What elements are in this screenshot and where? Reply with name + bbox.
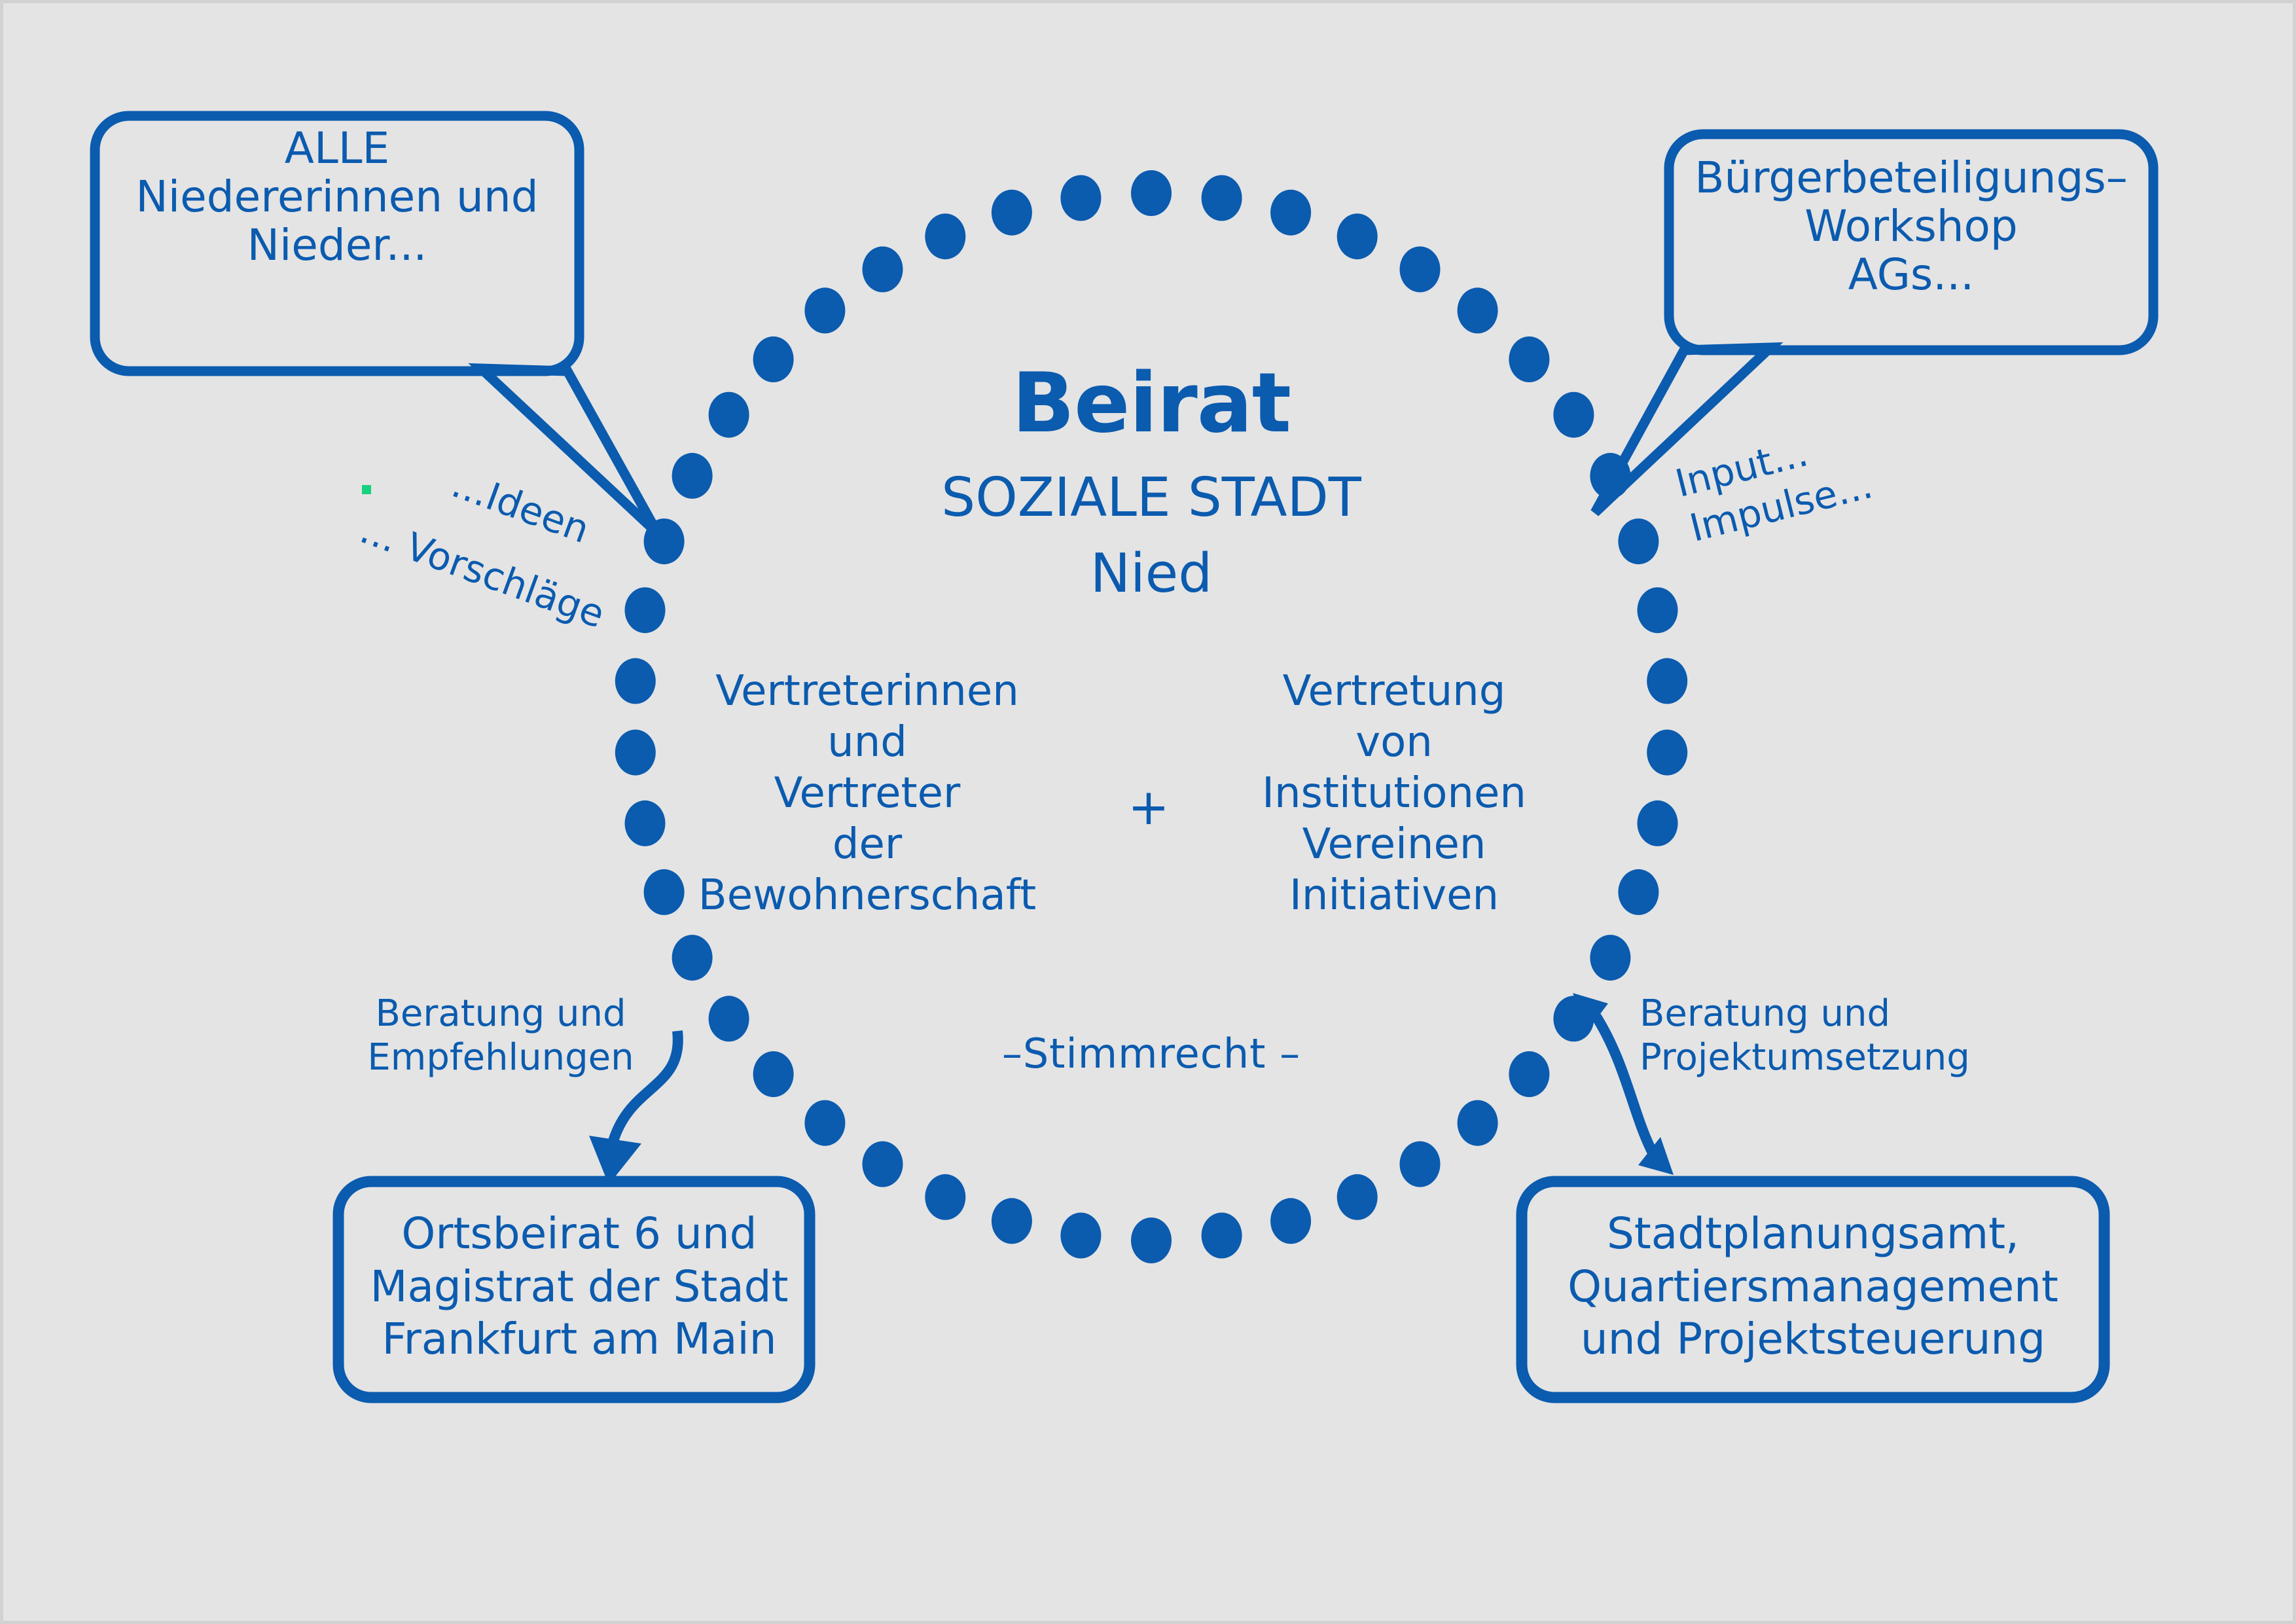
ring-dot [1638, 587, 1678, 633]
ring-dot [1647, 658, 1687, 704]
ring-dot [1509, 1051, 1549, 1097]
ring-dot [992, 190, 1032, 236]
ring-dot [1060, 175, 1101, 221]
page-title: Beirat [824, 357, 1479, 449]
green-marker-dot [362, 485, 371, 494]
ring-dot [925, 1174, 965, 1220]
members-residents-column: Vertreterinnen und Vertreter der Bewohne… [697, 666, 1037, 921]
ring-dot [863, 1142, 903, 1187]
ring-dot [1337, 213, 1378, 259]
ring-dot [1553, 392, 1594, 438]
ring-dot [1590, 935, 1630, 981]
ring-dot [863, 247, 903, 293]
ring-dot [804, 1100, 845, 1146]
voting-rights-note: –Stimmrecht – [922, 1031, 1380, 1076]
arrow-label-right: Beratung und Projektumsetzung [1640, 992, 1980, 1079]
plus-sign: + [1077, 779, 1221, 835]
ring-dot [1647, 730, 1687, 776]
ring-dot [709, 392, 749, 438]
ring-dot [1458, 287, 1498, 333]
ring-dot [1270, 190, 1311, 236]
ring-dot [1060, 1213, 1101, 1259]
ring-dot [672, 935, 713, 981]
ring-dot [709, 996, 749, 1041]
ring-dot [672, 453, 713, 499]
ring-dot [753, 336, 794, 382]
ring-dot [1618, 869, 1659, 915]
program-subtitle: SOZIALE STADT [824, 468, 1479, 528]
ring-dot [1458, 1100, 1498, 1146]
ring-dot [1337, 1174, 1378, 1220]
ring-dot [625, 587, 666, 633]
ring-dot [1202, 1213, 1242, 1259]
ring-dot [804, 287, 845, 333]
ring-dot [753, 1051, 794, 1097]
box-bottom-right-label: Stadtplanungsamt, Quartiersmanagement un… [1528, 1208, 2098, 1366]
ring-dot [625, 801, 666, 846]
ring-dot [1638, 801, 1678, 846]
ring-dot [1270, 1198, 1311, 1244]
ring-dot [1509, 336, 1549, 382]
members-institutions-column: Vertretung von Institutionen Vereinen In… [1240, 666, 1548, 921]
bubble-top-right-label: Bürgerbeteiligungs– Workshop AGs... [1669, 154, 2153, 299]
ring-dot [1131, 170, 1172, 216]
ring-dot [615, 658, 656, 704]
ring-dot [1400, 1142, 1441, 1187]
ring-dot [992, 1198, 1032, 1244]
ring-dot [1131, 1218, 1172, 1263]
program-place: Nied [824, 544, 1479, 604]
box-bottom-left-label: Ortsbeirat 6 und Magistrat der Stadt Fra… [350, 1208, 808, 1366]
ring-dot [615, 730, 656, 776]
ring-dot [1202, 175, 1242, 221]
ring-dot [1400, 247, 1441, 293]
ring-dot [925, 213, 965, 259]
ring-dot [644, 869, 685, 915]
arrow-label-left: Beratung und Empfehlungen [350, 992, 651, 1079]
diagram-canvas: ALLE Niedererinnen und Nieder... Bürgerb… [0, 0, 2296, 1624]
bubble-top-left-label: ALLE Niedererinnen und Nieder... [95, 124, 579, 270]
ring-dot [1618, 518, 1659, 564]
